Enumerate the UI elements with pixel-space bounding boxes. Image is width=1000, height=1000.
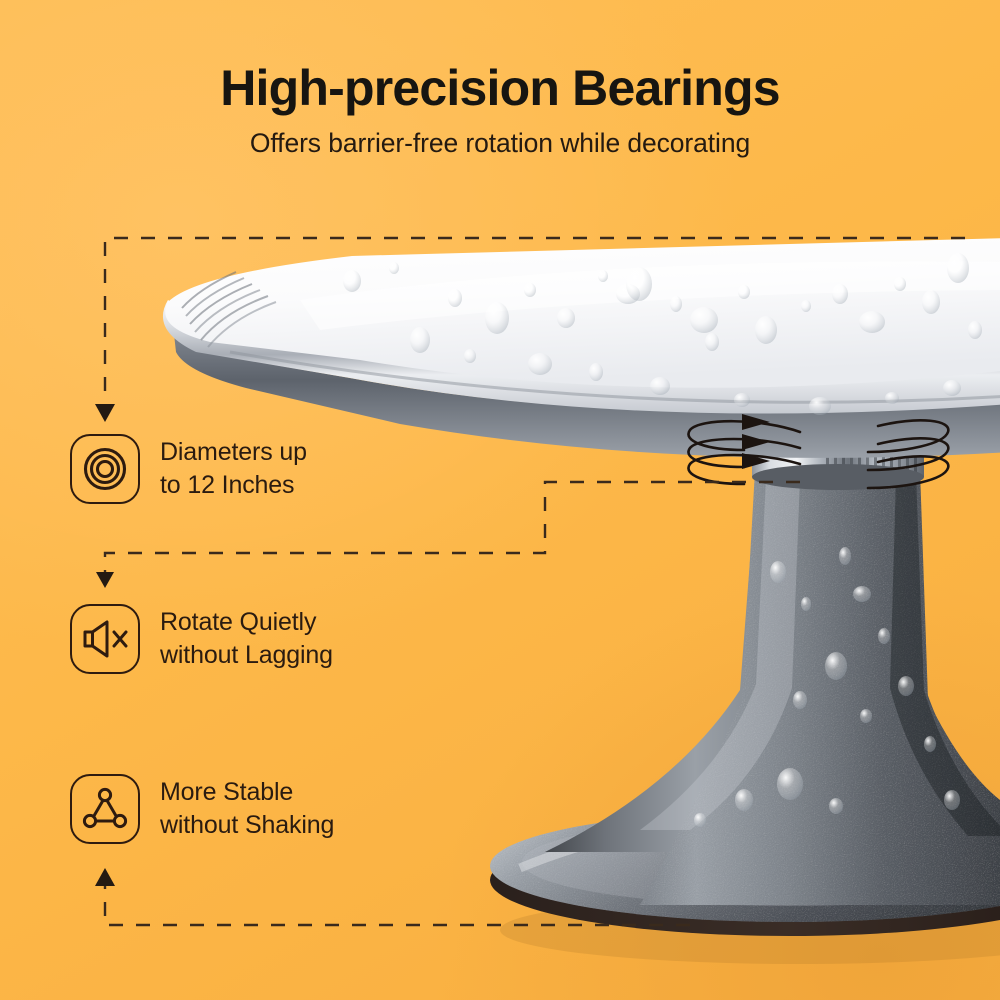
infographic-canvas: High-precision Bearings Offers barrier-f… xyxy=(0,0,1000,1000)
feature-quiet-label: Rotate Quietly without Lagging xyxy=(160,606,333,673)
connector-to-stable xyxy=(105,886,690,925)
arrowhead-down-2 xyxy=(96,572,114,588)
feature-diameters: Diameters up to 12 Inches xyxy=(70,434,307,504)
feature-stable-label: More Stable without Shaking xyxy=(160,776,334,843)
triangle-nodes-icon-box xyxy=(70,774,140,844)
arrowhead-down-1 xyxy=(95,404,115,422)
feature-quiet: Rotate Quietly without Lagging xyxy=(70,604,333,674)
concentric-circles-icon-box xyxy=(70,434,140,504)
connector-to-diameters xyxy=(105,238,965,404)
speaker-mute-icon xyxy=(81,618,129,660)
speaker-mute-icon-box xyxy=(70,604,140,674)
concentric-circles-icon xyxy=(82,446,128,492)
arrowhead-up-3 xyxy=(95,868,115,886)
feature-diameters-label: Diameters up to 12 Inches xyxy=(160,436,307,503)
header: High-precision Bearings Offers barrier-f… xyxy=(0,62,1000,159)
feature-stable: More Stable without Shaking xyxy=(70,774,334,844)
page-subtitle: Offers barrier-free rotation while decor… xyxy=(0,128,1000,159)
page-title: High-precision Bearings xyxy=(0,62,1000,115)
triangle-nodes-icon xyxy=(82,787,128,831)
